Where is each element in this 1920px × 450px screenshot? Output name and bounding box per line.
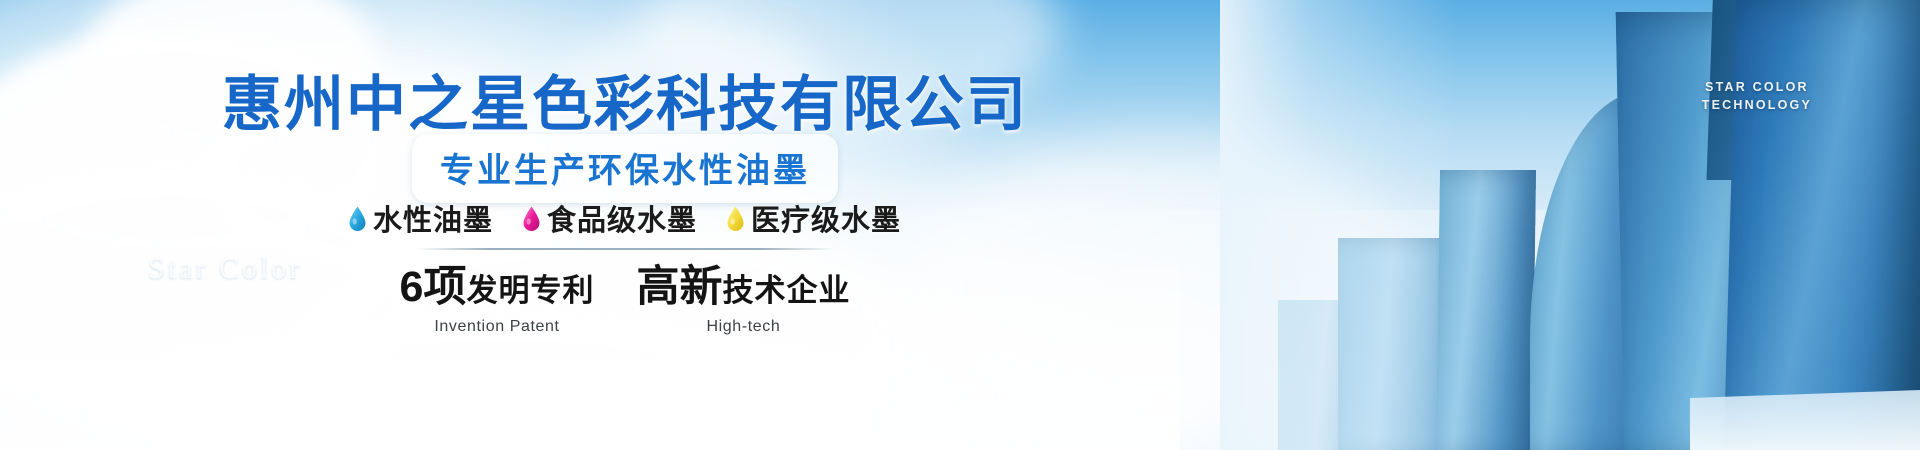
badge-high-tech: 高新技术企业 High-tech — [636, 266, 850, 336]
water-drop-icon — [349, 206, 366, 231]
badge-highlight: 6项 — [400, 263, 467, 311]
badge-english-text: High-tech — [636, 318, 850, 336]
slogan-pill: 专业生产环保水性油墨 — [412, 134, 838, 203]
tower-brand-line2: TECHNOLOGY — [1702, 96, 1812, 114]
slogan-pill-wrapper: 专业生产环保水性油墨 — [0, 134, 1250, 203]
water-drop-icon — [727, 206, 744, 231]
tower-brand-mark: STAR COLOR TECHNOLOGY — [1702, 78, 1812, 114]
badge-suffix: 技术企业 — [722, 273, 850, 308]
city-fade-overlay — [1220, 0, 1920, 450]
ink-item-food-grade: 食品级水墨 — [523, 197, 697, 239]
credential-badge-list: 6项发明专利 Invention Patent 高新技术企业 High-tech — [0, 266, 1250, 336]
badge-chinese-text: 高新技术企业 — [636, 266, 850, 309]
ink-label: 食品级水墨 — [547, 197, 697, 239]
ink-label: 医疗级水墨 — [751, 197, 901, 239]
badge-chinese-text: 6项发明专利 — [400, 266, 595, 309]
promotional-banner: Star Color STAR COLOR TECHNOLOGY 惠州中之星色彩… — [0, 0, 1920, 450]
ink-item-medical-grade: 医疗级水墨 — [727, 197, 901, 239]
badge-invention-patent: 6项发明专利 Invention Patent — [400, 266, 595, 336]
company-title: 惠州中之星色彩科技有限公司 — [0, 56, 1250, 143]
ink-label: 水性油墨 — [373, 197, 493, 239]
city-skyline-image — [1220, 0, 1920, 450]
banner-content: 惠州中之星色彩科技有限公司 专业生产环保水性油墨 — [0, 0, 1250, 450]
section-divider — [415, 248, 835, 250]
water-drop-icon — [523, 206, 540, 231]
badge-english-text: Invention Patent — [400, 318, 595, 336]
badge-suffix: 发明专利 — [466, 273, 594, 308]
ink-type-list: 水性油墨 — [0, 197, 1250, 239]
tower-brand-line1: STAR COLOR — [1702, 78, 1812, 96]
ink-item-water-based: 水性油墨 — [349, 197, 493, 239]
badge-highlight: 高新 — [636, 263, 722, 311]
